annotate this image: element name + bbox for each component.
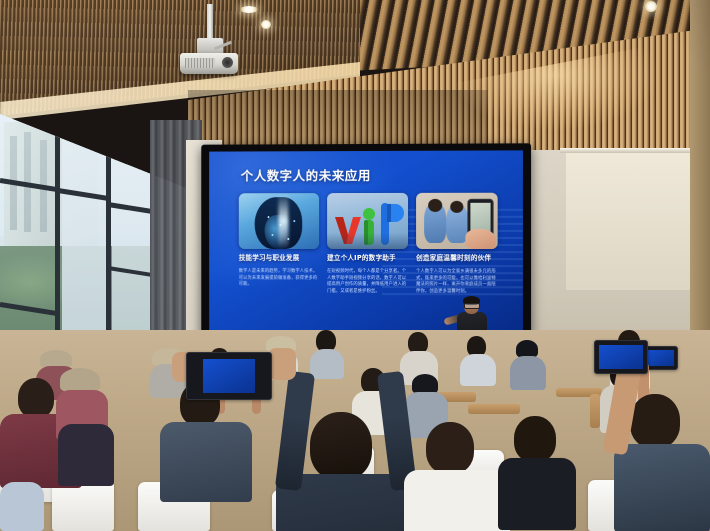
hand-holding-phone [465,229,495,249]
seminar-room-photo: 个人数字人的未来应用 [0,0,710,531]
phone-raised-right[interactable] [594,340,648,374]
phone-screen [203,359,255,393]
head [514,416,556,462]
vip-letters-image [327,193,408,249]
slide-image-row [239,193,499,249]
torso [58,424,114,486]
downlight-three [645,1,657,12]
photographer-hand-right [268,348,296,380]
column-two-body: 在短视频时代，每个人都是个分享者。个人数字助手短视频分享的话，数字人可以提高用户… [327,269,408,296]
torso [614,444,710,531]
column-one-body: 数字人是未来的趋势，学习数字人技术，可以为未来发展提前做准备，获得更多的可能。 [239,269,319,296]
family-photo-image [416,193,498,249]
torso [510,356,546,390]
child-right-head [450,201,463,213]
head-with-cap [60,368,100,392]
head [630,394,680,448]
phone-raised-foreground[interactable] [186,352,272,400]
letters-shadow [327,233,408,249]
column-three-body: 个人数字人可以为全家乡满很未多元的形式，既来更多的可能，也可以像哈利波特魔法的照… [416,269,498,296]
torso [498,458,576,530]
column-one-heading: 技能学习与职业发展 [239,255,319,262]
torso [460,354,496,386]
torso [310,349,344,379]
audience-area [0,330,710,531]
torso [404,470,510,531]
column-three-heading: 创造家庭温馨时刻的伙伴 [416,255,498,262]
roller-blind [566,152,710,290]
slide-heading-row: 技能学习与职业发展 建立个人IP的数字助手 创造家庭温馨时刻的伙伴 [239,255,499,262]
head-with-cap [412,374,438,394]
head [18,378,54,418]
digital-human-head-image [239,193,319,249]
projector-vent [185,58,215,68]
slide-column-one [239,193,319,249]
downlight-one [240,6,258,13]
slide-body-row: 数字人是未来的趋势，学习数字人技术，可以为未来发展提前做准备，获得更多的可能。 … [239,269,499,296]
presenter-glasses [464,303,480,309]
light-beam [278,193,288,249]
head [310,412,372,480]
head-with-bun [426,422,474,474]
phone-screen [644,350,674,366]
slide-column-three [416,193,498,249]
wooden-chair[interactable] [468,404,520,414]
phone-screen [599,345,643,369]
projector-lens [222,57,233,68]
torso [0,482,44,531]
wall-corner-column [690,0,710,380]
projector-mount-pole [207,4,213,40]
wooden-chair[interactable] [590,394,600,428]
torso [160,422,252,502]
child-left-head [428,199,442,212]
column-two-heading: 建立个人IP的数字助手 [327,255,408,262]
roller-blind-headrail [560,148,710,153]
downlight-two [261,20,271,29]
slide-column-two [327,193,408,249]
slide-title: 个人数字人的未来应用 [241,165,371,184]
